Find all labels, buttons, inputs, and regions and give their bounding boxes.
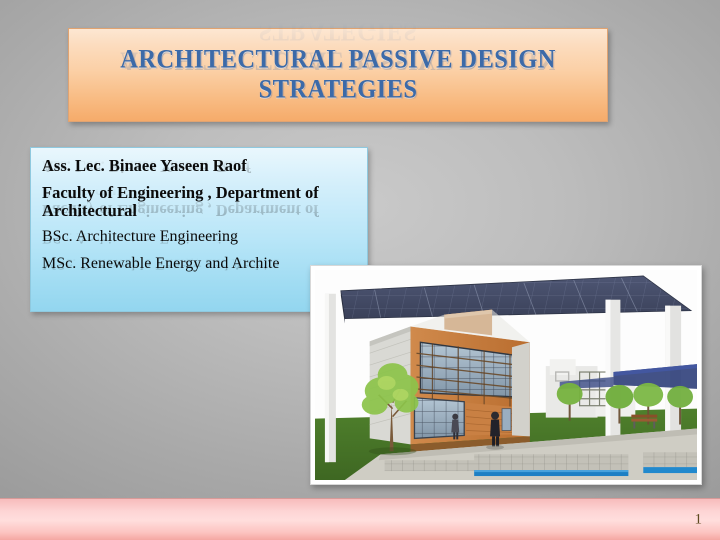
presenter-faculty: Faculty of Engineering , Department of A…	[42, 183, 319, 220]
presenter-faculty-line: Faculty of Engineering , Department of A…	[42, 184, 356, 220]
presenter-name-line: Ass. Lec. Binaee Yaseen Raof Ass. Lec. B…	[42, 157, 356, 175]
presenter-msc: MSc. Renewable Energy and Archite	[42, 255, 279, 272]
architecture-render-image	[315, 270, 697, 480]
footer-band: 1	[0, 498, 720, 540]
presenter-msc-line: MSc. Renewable Energy and Archite MSc. R…	[42, 255, 356, 272]
slide-canvas: Architectural Passive Design Strategies …	[0, 0, 720, 540]
architecture-render-frame	[310, 265, 702, 485]
page-number: 1	[695, 511, 703, 528]
title-box: Architectural Passive Design Strategies …	[68, 28, 608, 122]
presenter-bsc: BSc. Architecture Engineering	[42, 228, 238, 245]
page-title: Architectural Passive Design Strategies	[69, 45, 607, 104]
architecture-render-svg	[315, 270, 697, 480]
presenter-name: Ass. Lec. Binaee Yaseen Raof	[42, 156, 247, 175]
presenter-bsc-line: BSc. Architecture Engineering BSc. Archi…	[42, 228, 356, 245]
